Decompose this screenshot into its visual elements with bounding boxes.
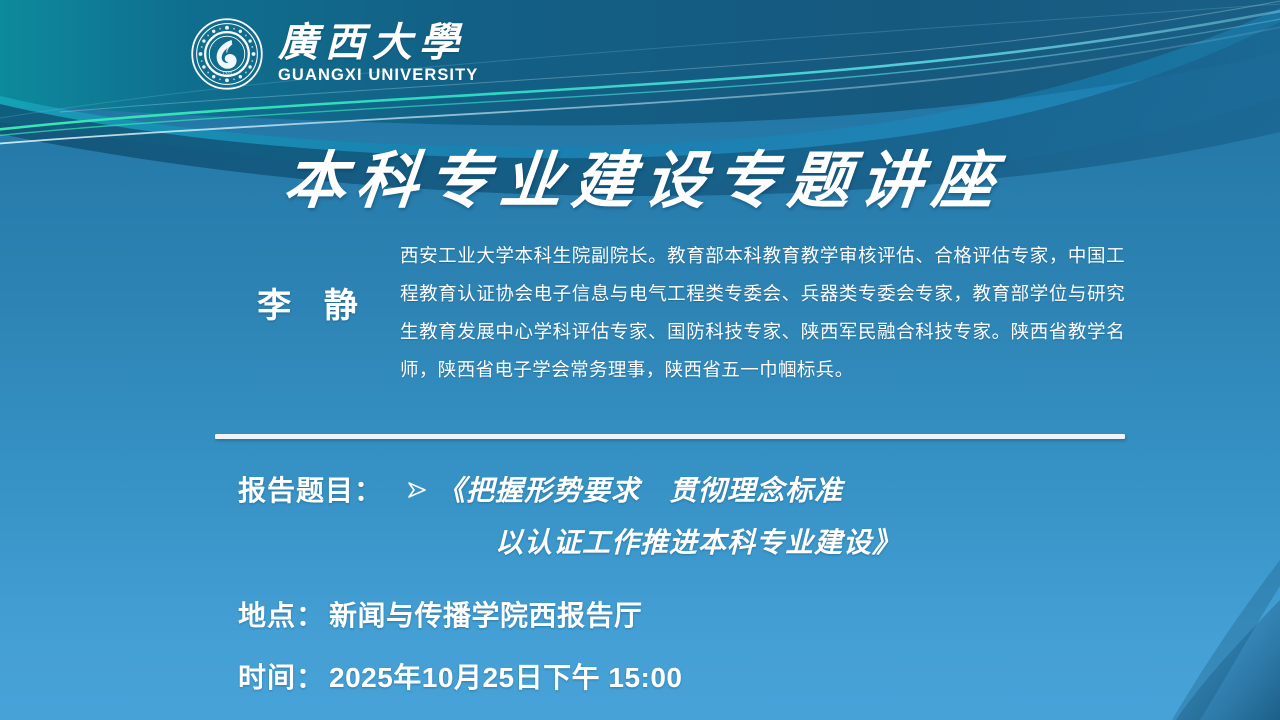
corner-shadow-shape-2 <box>1172 560 1280 720</box>
speaker-section: 李 静 西安工业大学本科生院副院长。教育部本科教育教学审核评估、合格评估专家，中… <box>215 238 1125 390</box>
place-value: 新闻与传播学院西报告厅 <box>329 594 643 634</box>
speaker-biography: 西安工业大学本科生院副院长。教育部本科教育教学审核评估、合格评估专家，中国工程教… <box>400 238 1125 390</box>
topic-line-1: 《把握形势要求 贯彻理念标准 <box>437 476 843 507</box>
time-label: 时间： <box>238 656 325 696</box>
university-wordmark: 廣西大學 GUANGXI UNIVERSITY <box>278 23 478 86</box>
section-divider <box>215 434 1125 439</box>
event-details: 报告题目： 《把握形势要求 贯彻理念标准 以认证工作推进本科专业建设》 地点： … <box>238 466 1188 696</box>
topic-row: 报告题目： 《把握形势要求 贯彻理念标准 以认证工作推进本科专业建设》 <box>238 466 1188 570</box>
time-value: 2025年10月25日下午 15:00 <box>329 656 682 696</box>
university-name-en: GUANGXI UNIVERSITY <box>278 66 478 85</box>
university-logo-block: 1928 廣西大學 GUANGXI UNIVERSITY <box>190 14 478 94</box>
arrow-bullet-icon <box>405 478 429 502</box>
university-name-cn: 廣西大學 <box>278 23 478 64</box>
topic-text: 《把握形势要求 贯彻理念标准 以认证工作推进本科专业建设》 <box>437 466 901 570</box>
speaker-name: 李 静 <box>215 238 400 327</box>
svg-text:1928: 1928 <box>222 72 232 77</box>
guangxi-university-seal-icon: 1928 <box>190 17 264 91</box>
place-row: 地点： 新闻与传播学院西报告厅 <box>238 594 1188 634</box>
lecture-poster-slide: 1928 廣西大學 GUANGXI UNIVERSITY 本科专业建设专题讲座 … <box>0 0 1280 720</box>
page-title: 本科专业建设专题讲座 <box>0 130 1280 220</box>
topic-label: 报告题目： <box>238 469 383 509</box>
place-label: 地点： <box>238 594 325 634</box>
corner-shadow-shape <box>1176 600 1280 720</box>
topic-line-2: 以认证工作推进本科专业建设》 <box>437 528 901 559</box>
time-row: 时间： 2025年10月25日下午 15:00 <box>238 656 1188 696</box>
